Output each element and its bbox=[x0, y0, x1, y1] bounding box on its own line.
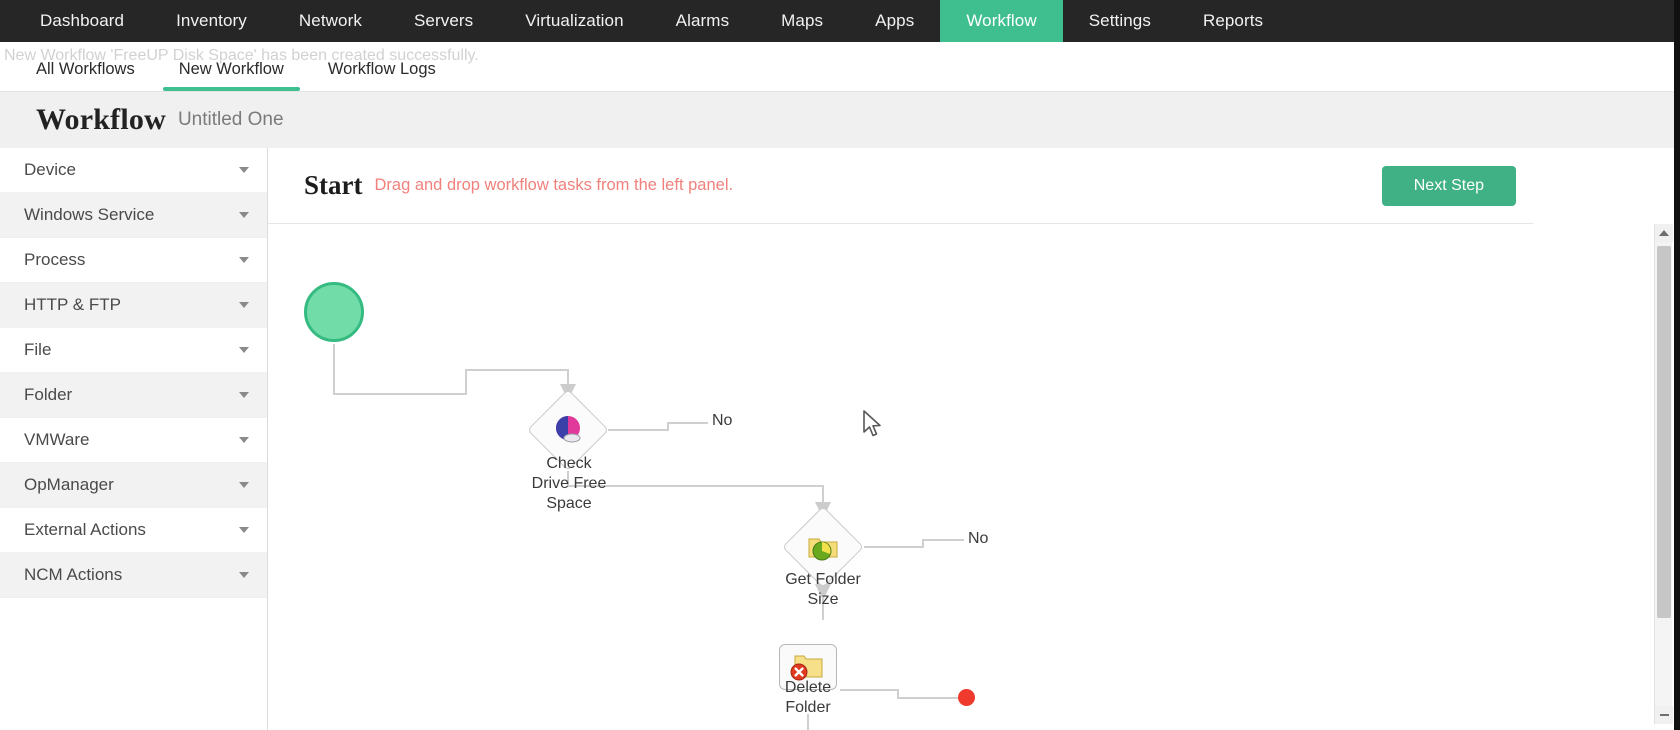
sidebar-item-label: Device bbox=[24, 160, 76, 180]
folder-delete-icon bbox=[789, 652, 827, 682]
canvas-hint: Drag and drop workflow tasks from the le… bbox=[374, 176, 733, 195]
workflow-diagram[interactable]: Check Drive Free Space Get Folder Size D… bbox=[268, 224, 1533, 730]
triangle-up-icon bbox=[1659, 230, 1669, 236]
task-category-sidebar: Device Windows Service Process HTTP & FT… bbox=[0, 148, 268, 730]
chevron-down-icon bbox=[239, 257, 249, 263]
chevron-down-icon bbox=[239, 437, 249, 443]
scroll-up-button[interactable] bbox=[1655, 224, 1673, 242]
sidebar-item-label: Windows Service bbox=[24, 205, 154, 225]
nav-item-workflow[interactable]: Workflow bbox=[940, 0, 1062, 42]
flow-node-end[interactable] bbox=[958, 689, 975, 706]
triangle-down-icon bbox=[1660, 714, 1669, 716]
chevron-down-icon bbox=[239, 167, 249, 173]
scrollbar-thumb[interactable] bbox=[1657, 246, 1671, 618]
sidebar-item-file[interactable]: File bbox=[0, 328, 267, 373]
sidebar-item-http-ftp[interactable]: HTTP & FTP bbox=[0, 283, 267, 328]
window-right-edge bbox=[1674, 0, 1680, 730]
nav-item-maps[interactable]: Maps bbox=[755, 0, 849, 42]
canvas-vertical-scrollbar[interactable] bbox=[1654, 224, 1672, 724]
sidebar-item-folder[interactable]: Folder bbox=[0, 373, 267, 418]
top-navigation-bar: Dashboard Inventory Network Servers Virt… bbox=[0, 0, 1680, 42]
chevron-down-icon bbox=[239, 527, 249, 533]
sidebar-item-label: VMWare bbox=[24, 430, 90, 450]
workflow-canvas-area: Start Drag and drop workflow tasks from … bbox=[268, 148, 1680, 730]
app-window: Dashboard Inventory Network Servers Virt… bbox=[0, 0, 1680, 730]
sidebar-item-opmanager[interactable]: OpManager bbox=[0, 463, 267, 508]
nav-item-alarms[interactable]: Alarms bbox=[650, 0, 756, 42]
nav-item-servers[interactable]: Servers bbox=[388, 0, 499, 42]
canvas-header: Start Drag and drop workflow tasks from … bbox=[268, 148, 1533, 224]
sidebar-item-ncm-actions[interactable]: NCM Actions bbox=[0, 553, 267, 598]
sidebar-item-windows-service[interactable]: Windows Service bbox=[0, 193, 267, 238]
chevron-down-icon bbox=[239, 302, 249, 308]
sidebar-item-label: OpManager bbox=[24, 475, 114, 495]
next-step-button[interactable]: Next Step bbox=[1382, 166, 1516, 206]
sidebar-item-device[interactable]: Device bbox=[0, 148, 267, 193]
sidebar-item-label: File bbox=[24, 340, 51, 360]
workflow-name: Untitled One bbox=[178, 109, 284, 131]
sidebar-item-label: Process bbox=[24, 250, 85, 270]
nav-item-dashboard[interactable]: Dashboard bbox=[14, 0, 150, 42]
nav-item-settings[interactable]: Settings bbox=[1063, 0, 1177, 42]
scroll-down-button[interactable] bbox=[1655, 706, 1673, 724]
edge-label-check-drive-no: No bbox=[712, 412, 732, 430]
flow-node-start[interactable] bbox=[304, 282, 364, 342]
sidebar-item-label: External Actions bbox=[24, 520, 146, 540]
sidebar-item-vmware[interactable]: VMWare bbox=[0, 418, 267, 463]
workflow-subtabs: All Workflows New Workflow Workflow Logs bbox=[0, 42, 1680, 92]
chevron-down-icon bbox=[239, 347, 249, 353]
nav-item-inventory[interactable]: Inventory bbox=[150, 0, 273, 42]
chevron-down-icon bbox=[239, 572, 249, 578]
nav-item-reports[interactable]: Reports bbox=[1177, 0, 1289, 42]
chevron-down-icon bbox=[239, 482, 249, 488]
chevron-down-icon bbox=[239, 392, 249, 398]
tab-all-workflows[interactable]: All Workflows bbox=[14, 60, 157, 91]
canvas-heading: Start bbox=[304, 170, 362, 201]
sidebar-item-label: NCM Actions bbox=[24, 565, 122, 585]
chevron-down-icon bbox=[239, 212, 249, 218]
arrow-head bbox=[560, 384, 831, 600]
edge-label-get-folder-no: No bbox=[968, 530, 988, 548]
nav-item-apps[interactable]: Apps bbox=[849, 0, 940, 42]
sidebar-item-process[interactable]: Process bbox=[0, 238, 267, 283]
sidebar-item-external-actions[interactable]: External Actions bbox=[0, 508, 267, 553]
nav-item-network[interactable]: Network bbox=[273, 0, 388, 42]
flow-connectors bbox=[268, 224, 1533, 730]
nav-item-virtualization[interactable]: Virtualization bbox=[499, 0, 649, 42]
tab-new-workflow[interactable]: New Workflow bbox=[157, 60, 306, 91]
tab-workflow-logs[interactable]: Workflow Logs bbox=[306, 60, 458, 91]
page-title: Workflow bbox=[36, 103, 166, 137]
sidebar-item-label: HTTP & FTP bbox=[24, 295, 121, 315]
page-header: Workflow Untitled One bbox=[0, 92, 1680, 148]
sidebar-item-label: Folder bbox=[24, 385, 72, 405]
